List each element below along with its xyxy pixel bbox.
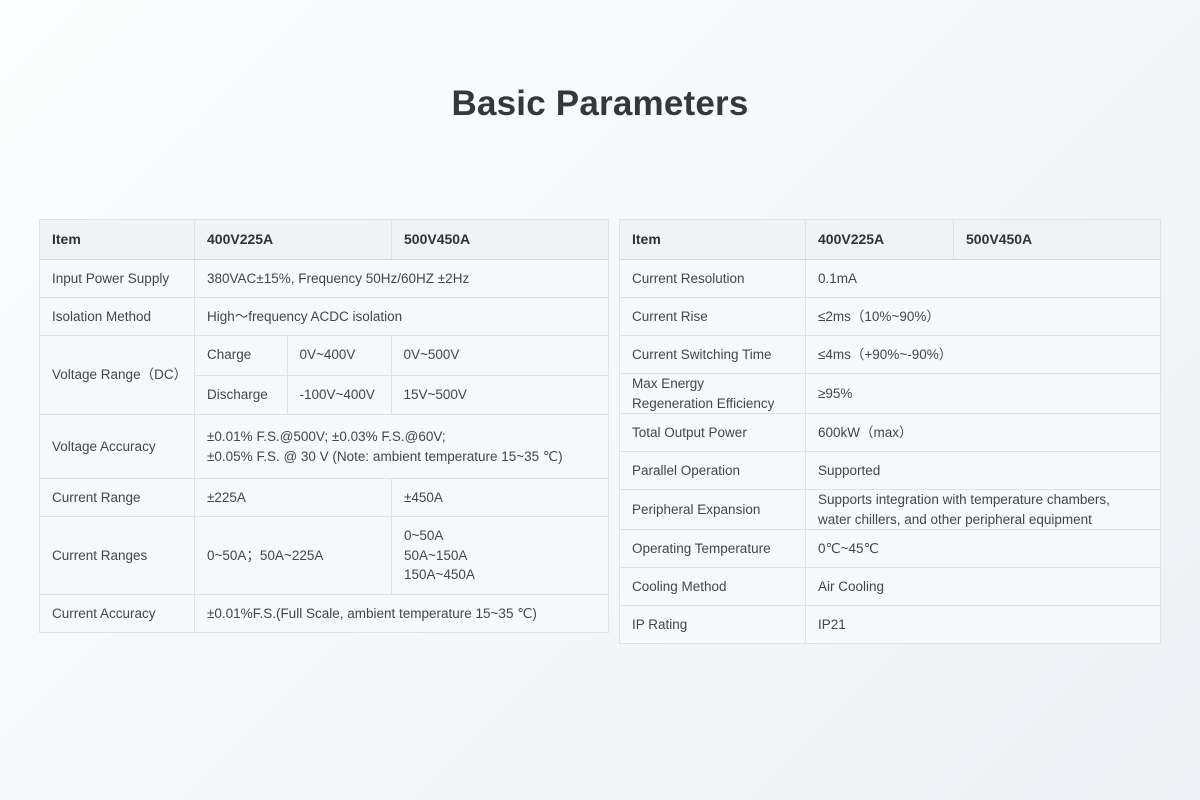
spec-sheet-page: Basic Parameters Item 400V225A 500V450A … — [0, 0, 1200, 800]
table-row: Max Energy Regeneration Efficiency ≥95% — [620, 374, 1161, 414]
row-value-parallel-operation: Supported — [806, 452, 1161, 490]
row-label-voltage-range: Voltage Range（DC） — [40, 336, 195, 415]
subtable-row-charge: Charge 0V~400V 0V~500V — [195, 336, 608, 375]
table-row: Total Output Power 600kW（max） — [620, 414, 1161, 452]
table-row: Cooling Method Air Cooling — [620, 568, 1161, 606]
row-value-peripheral-expansion: Supports integration with temperature ch… — [806, 490, 1161, 530]
table-row: Isolation Method High〜frequency ACDC iso… — [40, 298, 609, 336]
row-label-current-range: Current Range — [40, 479, 195, 517]
row-value-current-range-400v225a: ±225A — [195, 479, 392, 517]
row-value-current-ranges-500v450a: 0~50A 50A~150A 150A~450A — [392, 517, 609, 595]
row-value-current-range-500v450a: ±450A — [392, 479, 609, 517]
row-label-current-rise: Current Rise — [620, 298, 806, 336]
row-label-ip-rating: IP Rating — [620, 606, 806, 644]
right-spec-table: Item 400V225A 500V450A Current Resolutio… — [619, 219, 1161, 644]
table-row: Voltage Accuracy ±0.01% F.S.@500V; ±0.03… — [40, 415, 609, 479]
row-label-isolation-method: Isolation Method — [40, 298, 195, 336]
row-label-input-power-supply: Input Power Supply — [40, 260, 195, 298]
table-row: Input Power Supply 380VAC±15%, Frequency… — [40, 260, 609, 298]
table-row: Current Resolution 0.1mA — [620, 260, 1161, 298]
sub-value-charge-400v225a: 0V~400V — [287, 336, 391, 375]
row-value-voltage-range: Charge 0V~400V 0V~500V Discharge -100V~4… — [195, 336, 609, 415]
row-label-parallel-operation: Parallel Operation — [620, 452, 806, 490]
table-row: Current Rise ≤2ms（10%~90%） — [620, 298, 1161, 336]
row-value-current-resolution: 0.1mA — [806, 260, 1161, 298]
row-value-isolation-method: High〜frequency ACDC isolation — [195, 298, 609, 336]
row-value-max-energy-regeneration-efficiency: ≥95% — [806, 374, 1161, 414]
row-value-current-rise: ≤2ms（10%~90%） — [806, 298, 1161, 336]
row-value-current-switching-time: ≤4ms（+90%~-90%） — [806, 336, 1161, 374]
sub-value-discharge-400v225a: -100V~400V — [287, 375, 391, 414]
header-item: Item — [40, 220, 195, 260]
page-title: Basic Parameters — [0, 84, 1200, 124]
header-500v450a: 500V450A — [392, 220, 609, 260]
table-row: Peripheral Expansion Supports integratio… — [620, 490, 1161, 530]
row-value-cooling-method: Air Cooling — [806, 568, 1161, 606]
table-row: Parallel Operation Supported — [620, 452, 1161, 490]
left-spec-table: Item 400V225A 500V450A Input Power Suppl… — [39, 219, 609, 633]
table-row: IP Rating IP21 — [620, 606, 1161, 644]
table-row: Current Switching Time ≤4ms（+90%~-90%） — [620, 336, 1161, 374]
table-header-row: Item 400V225A 500V450A — [40, 220, 609, 260]
header-500v450a: 500V450A — [954, 220, 1161, 260]
sub-label-charge: Charge — [195, 336, 287, 375]
row-label-peripheral-expansion: Peripheral Expansion — [620, 490, 806, 530]
header-400v225a: 400V225A — [806, 220, 954, 260]
header-item: Item — [620, 220, 806, 260]
sub-value-discharge-500v450a: 15V~500V — [391, 375, 608, 414]
row-value-voltage-accuracy: ±0.01% F.S.@500V; ±0.03% F.S.@60V; ±0.05… — [195, 415, 609, 479]
row-value-operating-temperature: 0℃~45℃ — [806, 530, 1161, 568]
row-label-operating-temperature: Operating Temperature — [620, 530, 806, 568]
row-label-max-energy-regeneration-efficiency: Max Energy Regeneration Efficiency — [620, 374, 806, 414]
row-label-current-ranges: Current Ranges — [40, 517, 195, 595]
row-value-current-accuracy: ±0.01%F.S.(Full Scale, ambient temperatu… — [195, 595, 609, 633]
row-value-current-ranges-400v225a: 0~50A；50A~225A — [195, 517, 392, 595]
row-value-ip-rating: IP21 — [806, 606, 1161, 644]
row-label-current-switching-time: Current Switching Time — [620, 336, 806, 374]
row-value-input-power-supply: 380VAC±15%, Frequency 50Hz/60HZ ±2Hz — [195, 260, 609, 298]
voltage-accuracy-line-1: ±0.01% F.S.@500V; ±0.03% F.S.@60V; — [207, 427, 596, 447]
table-row: Current Ranges 0~50A；50A~225A 0~50A 50A~… — [40, 517, 609, 595]
sub-label-discharge: Discharge — [195, 375, 287, 414]
row-label-cooling-method: Cooling Method — [620, 568, 806, 606]
row-value-total-output-power: 600kW（max） — [806, 414, 1161, 452]
table-row: Voltage Range（DC） Charge 0V~400V 0V~500V… — [40, 336, 609, 415]
table-row: Current Accuracy ±0.01%F.S.(Full Scale, … — [40, 595, 609, 633]
voltage-accuracy-line-2: ±0.05% F.S. @ 30 V (Note: ambient temper… — [207, 447, 596, 467]
table-row: Operating Temperature 0℃~45℃ — [620, 530, 1161, 568]
subtable-row-discharge: Discharge -100V~400V 15V~500V — [195, 375, 608, 414]
row-label-current-resolution: Current Resolution — [620, 260, 806, 298]
header-400v225a: 400V225A — [195, 220, 392, 260]
table-header-row: Item 400V225A 500V450A — [620, 220, 1161, 260]
row-label-total-output-power: Total Output Power — [620, 414, 806, 452]
voltage-range-subtable: Charge 0V~400V 0V~500V Discharge -100V~4… — [195, 336, 608, 414]
row-label-current-accuracy: Current Accuracy — [40, 595, 195, 633]
tables-container: Item 400V225A 500V450A Input Power Suppl… — [39, 219, 1161, 644]
sub-value-charge-500v450a: 0V~500V — [391, 336, 608, 375]
row-label-voltage-accuracy: Voltage Accuracy — [40, 415, 195, 479]
table-row: Current Range ±225A ±450A — [40, 479, 609, 517]
